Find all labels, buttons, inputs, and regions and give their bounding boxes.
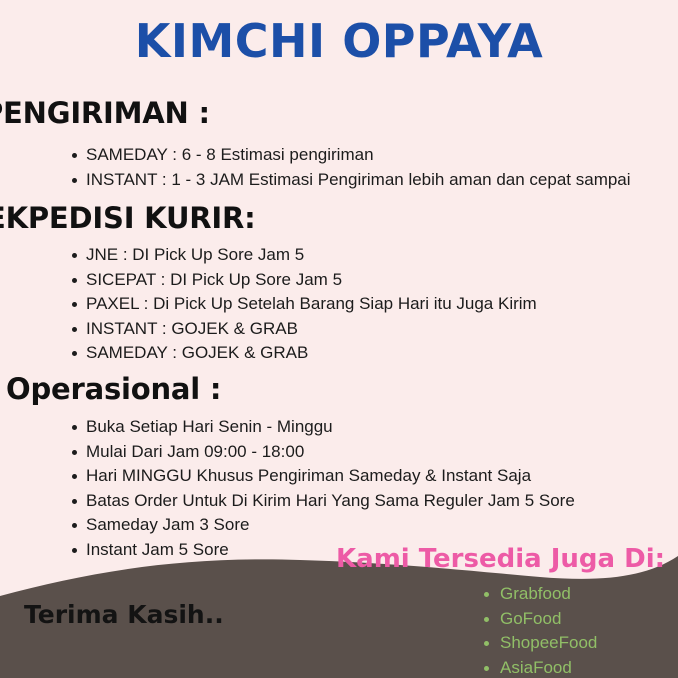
list-item: SAMEDAY : 6 - 8 Estimasi pengiriman bbox=[86, 143, 631, 168]
pengiriman-list: SAMEDAY : 6 - 8 Estimasi pengiriman INST… bbox=[64, 143, 631, 192]
operasional-list: Buka Setiap Hari Senin - Minggu Mulai Da… bbox=[64, 415, 575, 562]
promo-poster: KIMCHI OPPAYA PENGIRIMAN : SAMEDAY : 6 -… bbox=[0, 0, 678, 678]
list-item: Mulai Dari Jam 09:00 - 18:00 bbox=[86, 440, 575, 465]
list-item: AsiaFood bbox=[478, 656, 597, 678]
list-item: Buka Setiap Hari Senin - Minggu bbox=[86, 415, 575, 440]
list-item: Batas Order Untuk Di Kirim Hari Yang Sam… bbox=[86, 489, 575, 514]
page-title: KIMCHI OPPAYA bbox=[0, 14, 678, 68]
list-item: PAXEL : Di Pick Up Setelah Barang Siap H… bbox=[86, 292, 537, 317]
list-item: Grabfood bbox=[478, 582, 597, 607]
list-item: SICEPAT : DI Pick Up Sore Jam 5 bbox=[86, 268, 537, 293]
list-item: ShopeeFood bbox=[478, 631, 597, 656]
platform-list: Grabfood GoFood ShopeeFood AsiaFood bbox=[478, 582, 597, 678]
section-heading-operasional: Operasional : bbox=[6, 372, 221, 406]
thanks-message: Terima Kasih.. bbox=[24, 600, 224, 629]
list-item: Sameday Jam 3 Sore bbox=[86, 513, 575, 538]
list-item: INSTANT : GOJEK & GRAB bbox=[86, 317, 537, 342]
list-item: INSTANT : 1 - 3 JAM Estimasi Pengiriman … bbox=[86, 168, 631, 193]
list-item: Hari MINGGU Khusus Pengiriman Sameday & … bbox=[86, 464, 575, 489]
section-heading-ekpedisi: EKPEDISI KURIR: bbox=[0, 201, 256, 235]
ekpedisi-list: JNE : DI Pick Up Sore Jam 5 SICEPAT : DI… bbox=[64, 243, 537, 366]
section-heading-pengiriman: PENGIRIMAN : bbox=[0, 96, 210, 130]
list-item: JNE : DI Pick Up Sore Jam 5 bbox=[86, 243, 537, 268]
list-item: SAMEDAY : GOJEK & GRAB bbox=[86, 341, 537, 366]
list-item: GoFood bbox=[478, 607, 597, 632]
available-on-heading: Kami Tersedia Juga Di: bbox=[336, 544, 665, 574]
